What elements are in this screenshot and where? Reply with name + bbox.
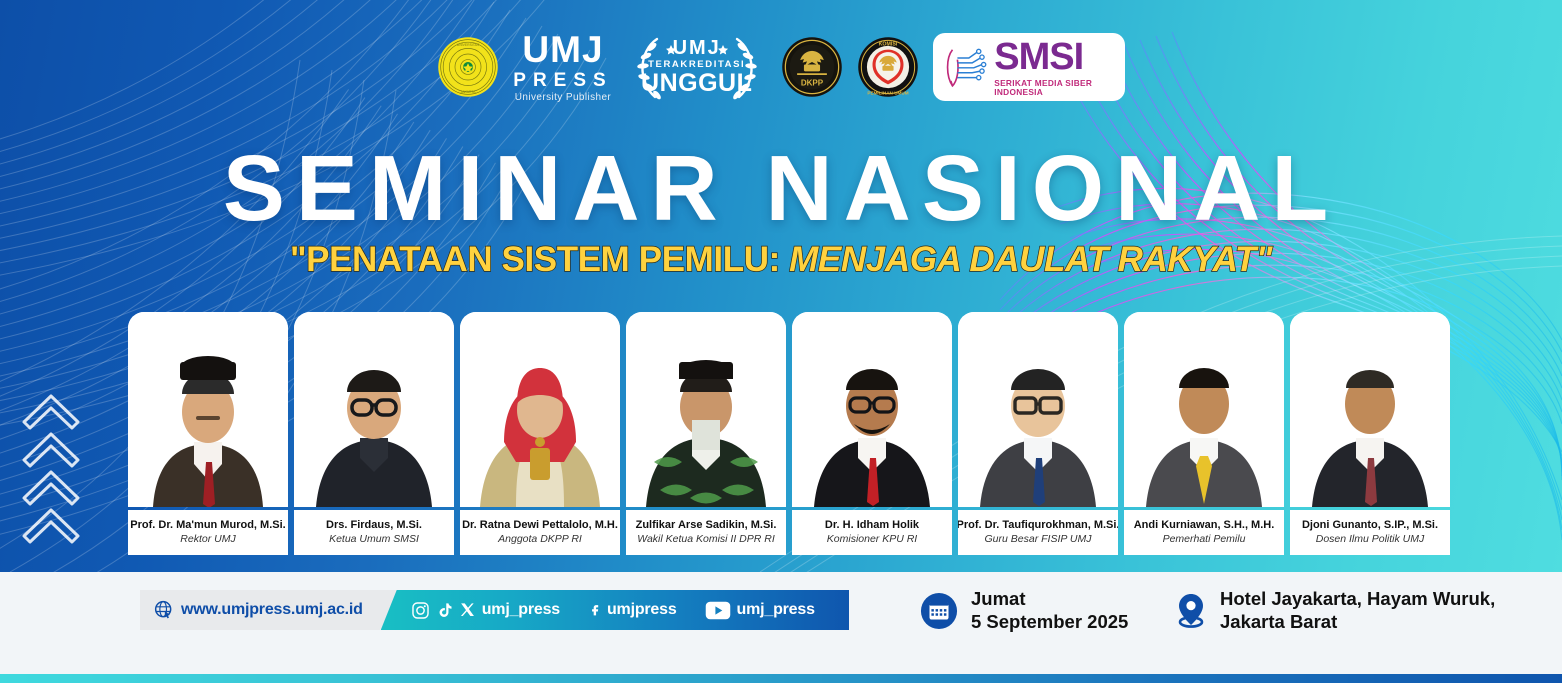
portrait-illustration — [294, 312, 454, 507]
x-twitter-icon — [459, 601, 476, 619]
svg-text:PEMILIHAN UMUM: PEMILIHAN UMUM — [867, 90, 908, 95]
umj-university-seal-icon: UNIVERSITAS JAKARTA — [437, 36, 499, 98]
speaker-photo — [460, 312, 620, 507]
speaker-nameplate: Zulfikar Arse Sadikin, M.Si. Wakil Ketua… — [626, 510, 786, 555]
speaker-name: Prof. Dr. Taufiqurokhman, M.Si. — [958, 519, 1118, 532]
portrait-illustration — [626, 312, 786, 507]
smsi-full: SERIKAT MEDIA SIBER INDONESIA — [994, 79, 1116, 96]
unggul-bottom: UNGGUL — [641, 71, 752, 96]
portrait-illustration — [958, 312, 1118, 507]
speaker-name: Dr. Ratna Dewi Pettalolo, M.H. — [462, 519, 618, 532]
umjpress-line3: University Publisher — [515, 93, 611, 103]
speaker-photo — [792, 312, 952, 507]
speaker-nameplate: Djoni Gunanto, S.IP., M.Si. Dosen Ilmu P… — [1290, 510, 1450, 555]
speaker-nameplate: Prof. Dr. Taufiqurokhman, M.Si. Guru Bes… — [958, 510, 1118, 555]
social-group-instagram-tiktok-x[interactable]: umj_press — [397, 601, 574, 620]
akreditasi-unggul-badge: UMJ TERAKREDITASI UNGGUL — [627, 31, 767, 103]
speaker-card: Dr. Ratna Dewi Pettalolo, M.H. Anggota D… — [460, 312, 620, 557]
speaker-name: Dr. H. Idham Holik — [825, 519, 919, 532]
youtube-icon — [705, 601, 731, 620]
event-venue-block: Hotel Jayakarta, Hayam Wuruk, Jakarta Ba… — [1175, 588, 1495, 633]
speaker-role: Pemerhati Pemilu — [1163, 533, 1246, 546]
speaker-nameplate: Drs. Firdaus, M.Si. Ketua Umum SMSI — [294, 510, 454, 555]
speaker-role: Ketua Umum SMSI — [329, 533, 419, 546]
speaker-card: Andi Kurniawan, S.H., M.H. Pemerhati Pem… — [1124, 312, 1284, 557]
social-handle: umjpress — [607, 601, 677, 619]
instagram-icon — [411, 601, 430, 620]
speaker-photo — [958, 312, 1118, 507]
speaker-nameplate: Dr. Ratna Dewi Pettalolo, M.H. Anggota D… — [460, 510, 620, 555]
speaker-name: Drs. Firdaus, M.Si. — [326, 519, 422, 532]
umjpress-line1: UMJ — [522, 31, 603, 68]
speaker-card: Dr. H. Idham Holik Komisioner KPU RI — [792, 312, 952, 557]
speaker-name: Andi Kurniawan, S.H., M.H. — [1134, 519, 1275, 532]
svg-text:JAKARTA: JAKARTA — [461, 90, 477, 94]
seminar-banner: UNIVERSITAS JAKARTA UMJ PRESS University… — [0, 0, 1562, 683]
website-label: www.umjpress.umj.ac.id — [181, 601, 363, 619]
location-pin-icon — [1175, 591, 1207, 631]
event-venue-text: Hotel Jayakarta, Hayam Wuruk, Jakarta Ba… — [1220, 588, 1495, 633]
speaker-nameplate: Andi Kurniawan, S.H., M.H. Pemerhati Pem… — [1124, 510, 1284, 555]
speaker-card: Prof. Dr. Ma'mun Murod, M.Si. Rektor UMJ — [128, 312, 288, 557]
umjpress-wordmark: UMJ PRESS University Publisher — [513, 31, 612, 103]
page-title: SEMINAR NASIONAL — [0, 142, 1562, 235]
logo-row: UNIVERSITAS JAKARTA UMJ PRESS University… — [0, 28, 1562, 106]
speaker-photo — [128, 312, 288, 507]
facebook-icon — [588, 600, 601, 620]
globe-icon — [154, 600, 174, 620]
portrait-illustration — [128, 312, 288, 507]
event-date-block: Jumat 5 September 2025 — [920, 588, 1128, 633]
speaker-role: Anggota DKPP RI — [498, 533, 582, 546]
speaker-nameplate: Prof. Dr. Ma'mun Murod, M.Si. Rektor UMJ — [128, 510, 288, 555]
speaker-card: Prof. Dr. Taufiqurokhman, M.Si. Guru Bes… — [958, 312, 1118, 557]
social-handle: umj_press — [737, 601, 815, 619]
page-subtitle: "PENATAAN SISTEM PEMILU: MENJAGA DAULAT … — [0, 242, 1562, 277]
smsi-circuit-pen-icon — [941, 40, 989, 94]
website-chip[interactable]: www.umjpress.umj.ac.id — [140, 590, 397, 630]
speaker-nameplate: Dr. H. Idham Holik Komisioner KPU RI — [792, 510, 952, 555]
speaker-role: Rektor UMJ — [180, 533, 235, 546]
contact-bar: www.umjpress.umj.ac.id umj_press — [140, 590, 849, 630]
social-group-youtube[interactable]: umj_press — [691, 601, 829, 620]
speaker-name: Prof. Dr. Ma'mun Murod, M.Si. — [130, 519, 285, 532]
social-handle: umj_press — [482, 601, 560, 619]
speakers-row: Prof. Dr. Ma'mun Murod, M.Si. Rektor UMJ — [128, 312, 1450, 557]
portrait-illustration — [460, 312, 620, 507]
speaker-role: Komisioner KPU RI — [827, 533, 917, 546]
speaker-card: Zulfikar Arse Sadikin, M.Si. Wakil Ketua… — [626, 312, 786, 557]
portrait-illustration — [1290, 312, 1450, 507]
svg-text:KOMISI: KOMISI — [878, 41, 897, 47]
portrait-illustration — [1124, 312, 1284, 507]
event-date-text: Jumat 5 September 2025 — [971, 588, 1128, 633]
social-bar: umj_press umjpress umj_press — [381, 590, 849, 630]
speaker-name: Djoni Gunanto, S.IP., M.Si. — [1302, 519, 1438, 532]
subtitle-part2: MENJAGA DAULAT RAKYAT" — [789, 240, 1272, 279]
smsi-logo-box: SMSI SERIKAT MEDIA SIBER INDONESIA — [933, 33, 1125, 101]
venue-line1: Hotel Jayakarta, Hayam Wuruk, — [1220, 588, 1495, 611]
calendar-icon — [920, 592, 958, 630]
portrait-illustration — [792, 312, 952, 507]
speaker-card: Djoni Gunanto, S.IP., M.Si. Dosen Ilmu P… — [1290, 312, 1450, 557]
event-day: Jumat — [971, 588, 1128, 611]
dkpp-emblem-icon: DKPP — [781, 36, 843, 98]
banner-stage: UNIVERSITAS JAKARTA UMJ PRESS University… — [0, 0, 1562, 572]
umjpress-line2: PRESS — [513, 71, 612, 90]
svg-text:DKPP: DKPP — [801, 79, 824, 88]
smsi-abbr: SMSI — [994, 38, 1116, 76]
tiktok-icon — [436, 601, 453, 620]
footer-accent-strip — [0, 674, 1562, 683]
unggul-top: UMJ — [673, 38, 721, 58]
speaker-role: Dosen Ilmu Politik UMJ — [1316, 533, 1425, 546]
chevron-up-decoration-icon — [18, 388, 84, 548]
speaker-photo — [1124, 312, 1284, 507]
speaker-photo — [626, 312, 786, 507]
footer: www.umjpress.umj.ac.id umj_press — [0, 572, 1562, 683]
speaker-name: Zulfikar Arse Sadikin, M.Si. — [636, 519, 777, 532]
svg-text:UNIVERSITAS: UNIVERSITAS — [457, 43, 480, 47]
kpu-komisi-pemilihan-umum-emblem-icon: KOMISI PEMILIHAN UMUM — [857, 36, 919, 98]
speaker-photo — [294, 312, 454, 507]
speaker-role: Wakil Ketua Komisi II DPR RI — [637, 533, 775, 546]
speaker-card: Drs. Firdaus, M.Si. Ketua Umum SMSI — [294, 312, 454, 557]
speaker-role: Guru Besar FISIP UMJ — [985, 533, 1092, 546]
social-group-facebook[interactable]: umjpress — [574, 600, 691, 620]
subtitle-part1: "PENATAAN SISTEM PEMILU: — [290, 240, 789, 279]
event-date: 5 September 2025 — [971, 611, 1128, 634]
venue-line2: Jakarta Barat — [1220, 611, 1495, 634]
speaker-photo — [1290, 312, 1450, 507]
